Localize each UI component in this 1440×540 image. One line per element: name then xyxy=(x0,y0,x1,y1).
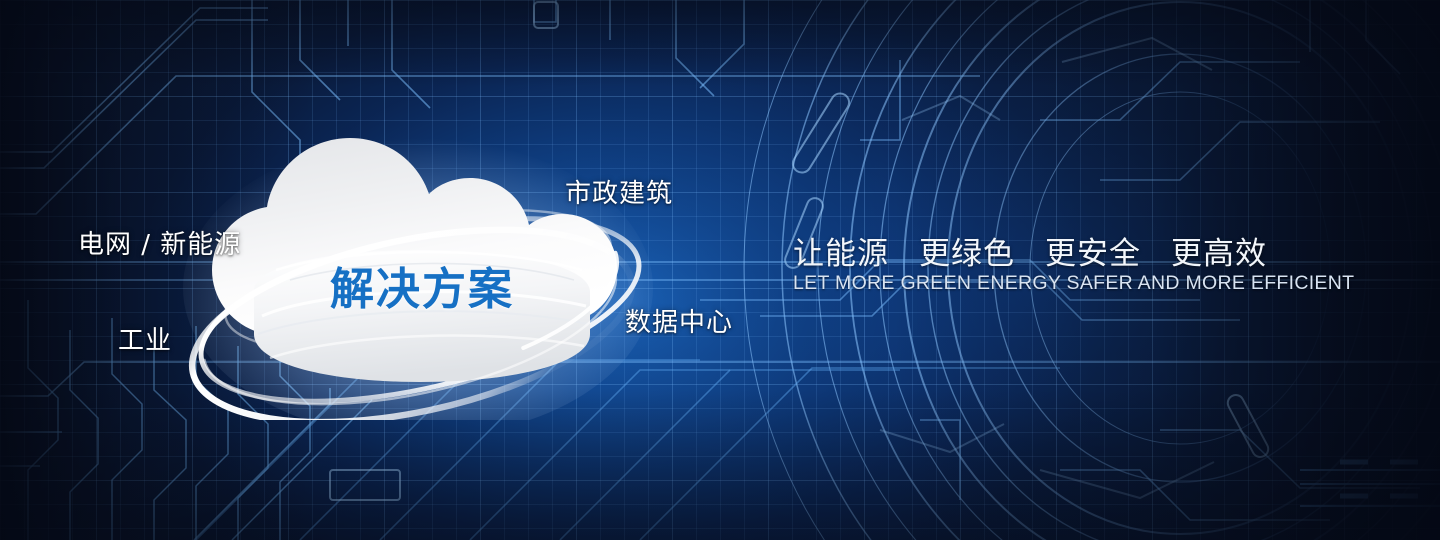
solution-banner: 解决方案 电网 / 新能源 工业 市政建筑 数据中心 让能源更绿色更安全更高效 … xyxy=(0,0,1440,540)
cloud-label-grid-new-energy[interactable]: 电网 / 新能源 xyxy=(78,224,241,261)
cloud-label-data-center[interactable]: 数据中心 xyxy=(625,302,733,339)
slogan-segment: 让能源 xyxy=(793,236,889,272)
slogan-segment: 更安全 xyxy=(1045,236,1141,272)
slogan-chinese: 让能源更绿色更安全更高效 xyxy=(793,228,1267,273)
cloud-label-industry[interactable]: 工业 xyxy=(118,320,172,357)
page-title: 解决方案 xyxy=(330,253,514,317)
slogan-segment: 更高效 xyxy=(1171,236,1267,272)
cloud-label-municipal-building[interactable]: 市政建筑 xyxy=(565,173,673,210)
slogan-english: LET MORE GREEN ENERGY SAFER AND MORE EFF… xyxy=(793,272,1354,295)
slogan-segment: 更绿色 xyxy=(919,236,1015,272)
